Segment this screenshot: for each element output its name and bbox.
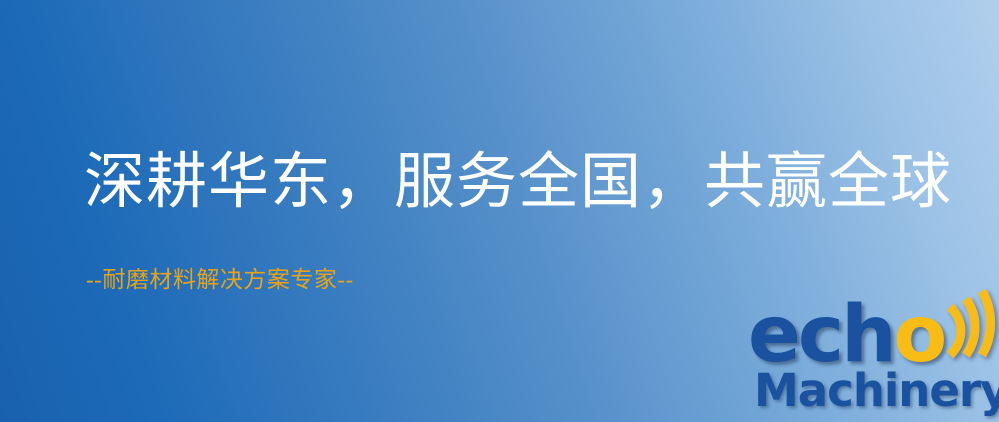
logo-tagline-text: Machinery [754,364,999,417]
promotional-banner: 深耕华东，服务全国，共赢全球 --耐磨材料解决方案专家-- echo Machi… [0,0,999,422]
company-logo: echo Machinery® [744,296,999,422]
signal-waves-icon [920,293,999,359]
logo-wordmark: echo [748,296,944,374]
banner-subtitle: --耐磨材料解决方案专家-- [86,268,354,291]
banner-headline: 深耕华东，服务全国，共赢全球 [84,152,952,213]
logo-tagline: Machinery® [754,368,999,413]
